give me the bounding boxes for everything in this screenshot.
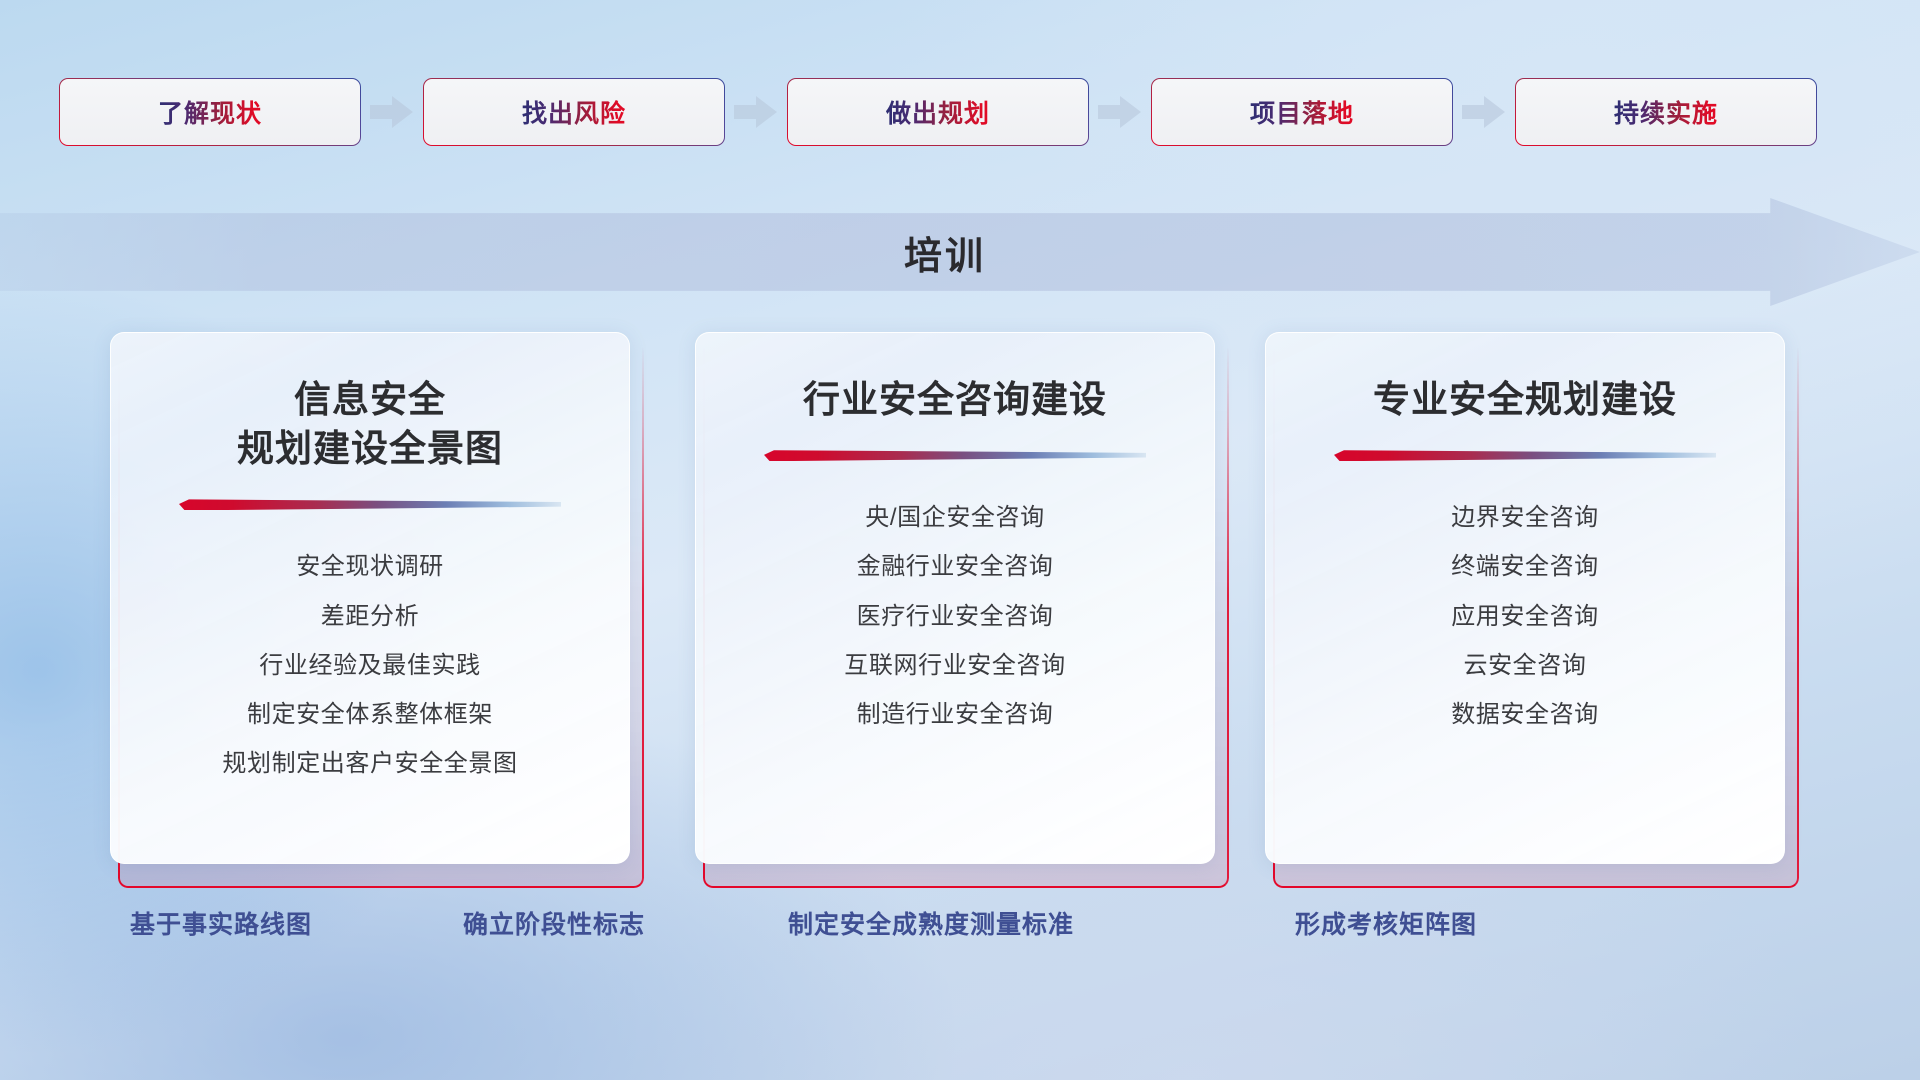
caption-1: 基于事实路线图	[130, 905, 312, 941]
arrow-right-icon	[1452, 95, 1516, 129]
slide-canvas: 了解现状 找出风险 做出规划	[0, 0, 1920, 1080]
list-item: 互联网行业安全咨询	[844, 647, 1065, 684]
list-item: 云安全咨询	[1463, 647, 1586, 684]
step-wrap-2: 找出风险	[424, 79, 788, 145]
arrow-right-icon	[724, 95, 788, 129]
step-box-4[interactable]: 项目落地	[1152, 79, 1452, 145]
list-item: 差距分析	[321, 598, 419, 635]
card-row: 信息安全 规划建设全景图 安全现状调研 差距分析 行业经验及最佳实践 制定安全体…	[110, 332, 1810, 880]
card-divider-rule	[179, 499, 561, 510]
card-title: 行业安全咨询建设	[803, 375, 1107, 424]
list-item: 制定安全体系整体框架	[247, 696, 493, 733]
step-box-1[interactable]: 了解现状	[60, 79, 360, 145]
list-item: 边界安全咨询	[1451, 499, 1599, 536]
training-banner-label: 培训	[0, 198, 1890, 306]
step-label-1: 了解现状	[158, 94, 262, 130]
step-wrap-3: 做出规划	[788, 79, 1152, 145]
list-item: 行业经验及最佳实践	[259, 647, 480, 684]
card-item-list: 安全现状调研 差距分析 行业经验及最佳实践 制定安全体系整体框架 规划制定出客户…	[222, 548, 517, 782]
list-item: 金融行业安全咨询	[857, 548, 1054, 585]
arrow-right-icon	[360, 95, 424, 129]
caption-2: 确立阶段性标志	[463, 905, 645, 941]
process-step-row: 了解现状 找出风险 做出规划	[60, 78, 1860, 146]
card-1[interactable]: 信息安全 规划建设全景图 安全现状调研 差距分析 行业经验及最佳实践 制定安全体…	[110, 332, 630, 864]
card-3[interactable]: 专业安全规划建设 边界安全咨询 终端安全咨询 应用安全咨询 云安全咨询 数据安全…	[1265, 332, 1785, 864]
card-divider-rule	[1334, 450, 1716, 461]
training-banner: 培训	[0, 198, 1920, 306]
card-divider-rule	[764, 450, 1146, 461]
caption-row: 基于事实路线图 确立阶段性标志 制定安全成熟度测量标准 形成考核矩阵图	[0, 905, 1920, 965]
step-box-2[interactable]: 找出风险	[424, 79, 724, 145]
step-label-4: 项目落地	[1250, 94, 1354, 130]
card-slot-2: 行业安全咨询建设 央/国企安全咨询 金融行业安全咨询 医疗行业安全咨询 互联网行…	[695, 332, 1223, 880]
list-item: 安全现状调研	[296, 548, 444, 585]
card-item-list: 央/国企安全咨询 金融行业安全咨询 医疗行业安全咨询 互联网行业安全咨询 制造行…	[844, 499, 1065, 733]
card-title: 专业安全规划建设	[1373, 375, 1677, 424]
list-item: 央/国企安全咨询	[865, 499, 1044, 536]
card-slot-1: 信息安全 规划建设全景图 安全现状调研 差距分析 行业经验及最佳实践 制定安全体…	[110, 332, 638, 880]
step-label-5: 持续实施	[1614, 94, 1718, 130]
card-2[interactable]: 行业安全咨询建设 央/国企安全咨询 金融行业安全咨询 医疗行业安全咨询 互联网行…	[695, 332, 1215, 864]
list-item: 终端安全咨询	[1451, 548, 1599, 585]
step-label-3: 做出规划	[886, 94, 990, 130]
list-item: 应用安全咨询	[1451, 598, 1599, 635]
list-item: 规划制定出客户安全全景图	[222, 745, 517, 782]
step-wrap-4: 项目落地	[1152, 79, 1516, 145]
list-item: 制造行业安全咨询	[857, 696, 1054, 733]
step-label-2: 找出风险	[522, 94, 626, 130]
caption-4: 形成考核矩阵图	[1295, 905, 1477, 941]
step-box-3[interactable]: 做出规划	[788, 79, 1088, 145]
card-item-list: 边界安全咨询 终端安全咨询 应用安全咨询 云安全咨询 数据安全咨询	[1451, 499, 1599, 733]
step-wrap-1: 了解现状	[60, 79, 424, 145]
list-item: 数据安全咨询	[1451, 696, 1599, 733]
card-slot-3: 专业安全规划建设 边界安全咨询 终端安全咨询 应用安全咨询 云安全咨询 数据安全…	[1265, 332, 1793, 880]
step-box-5[interactable]: 持续实施	[1516, 79, 1816, 145]
arrow-right-icon	[1088, 95, 1152, 129]
card-title: 信息安全 规划建设全景图	[237, 375, 503, 473]
caption-3: 制定安全成熟度测量标准	[788, 905, 1074, 941]
list-item: 医疗行业安全咨询	[857, 598, 1054, 635]
step-wrap-5: 持续实施	[1516, 79, 1816, 145]
